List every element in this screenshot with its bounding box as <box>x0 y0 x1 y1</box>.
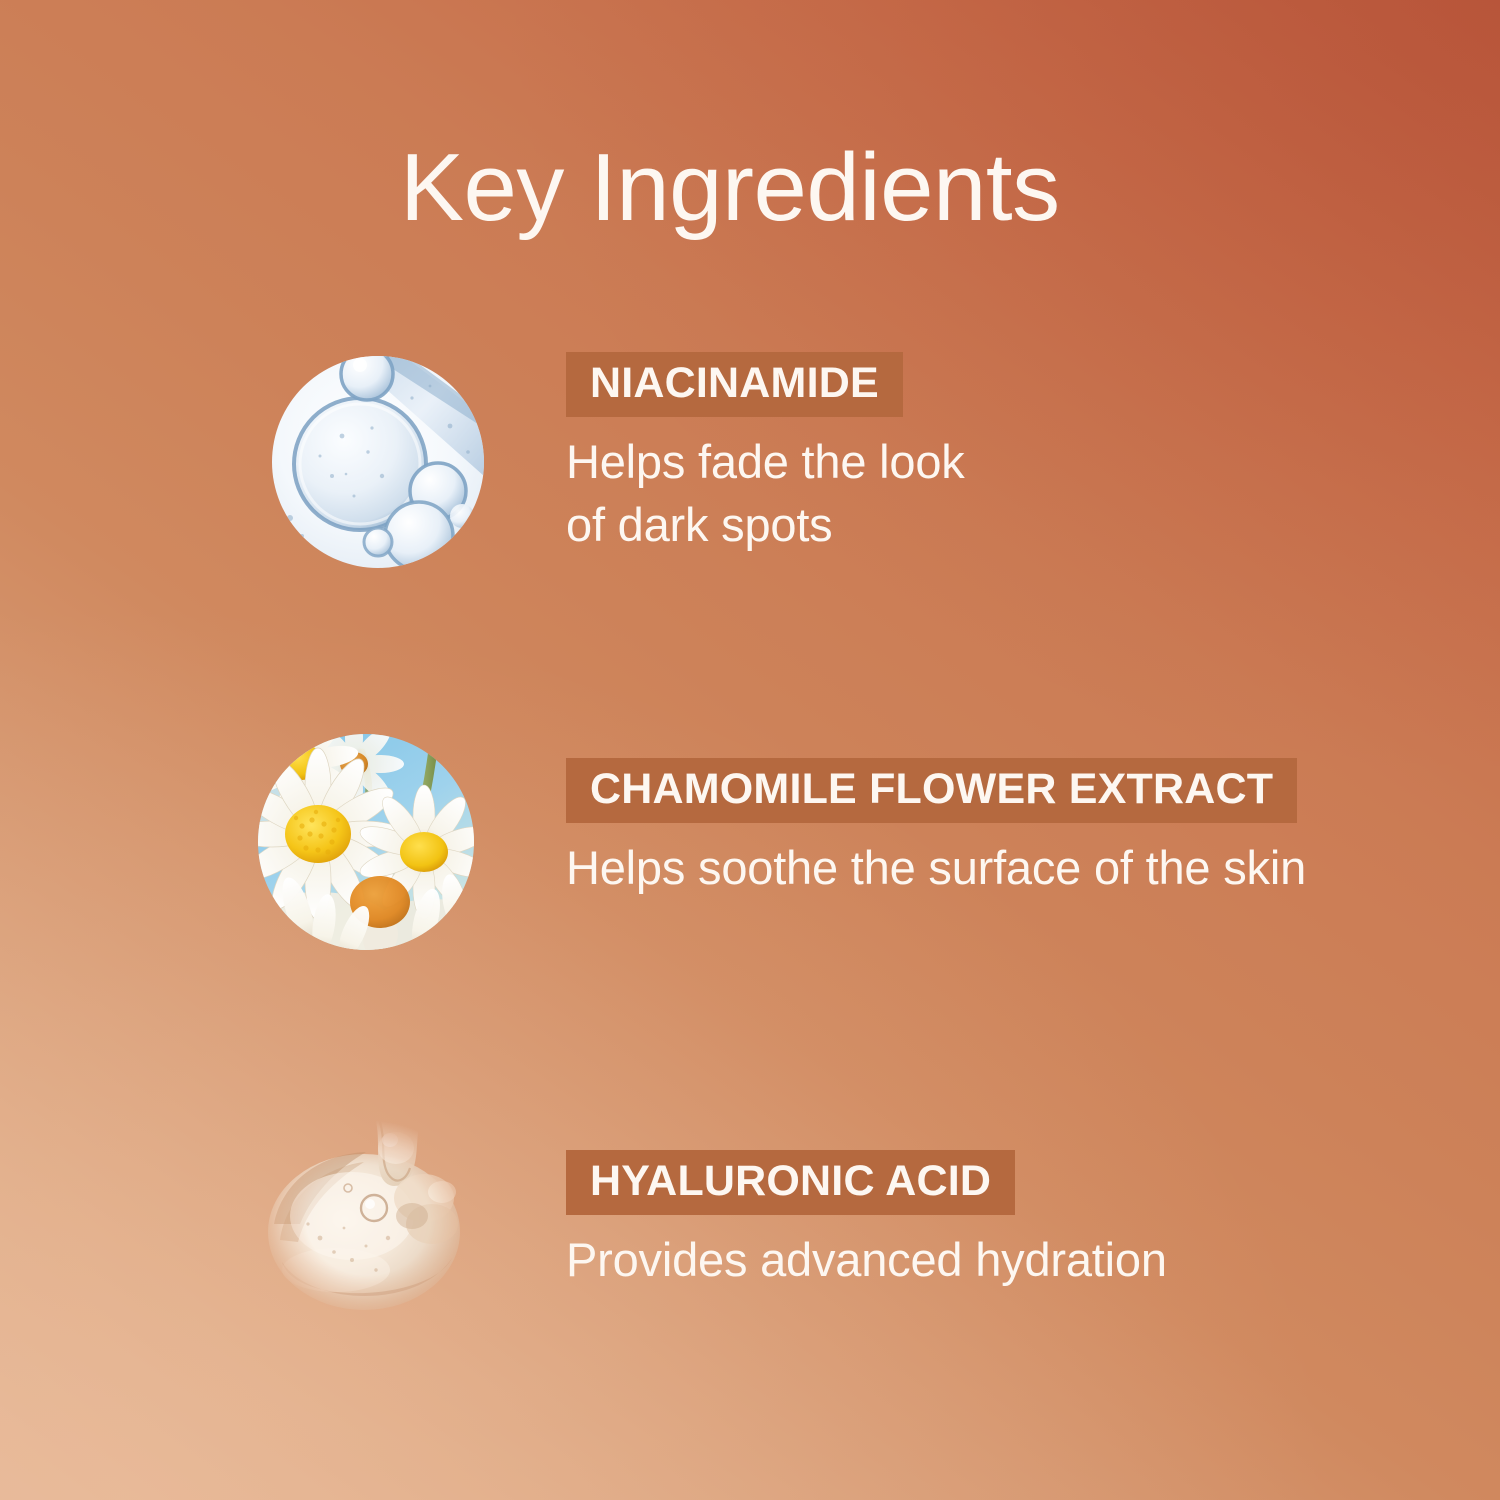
ingredient-name-badge: HYALURONIC ACID <box>566 1150 1015 1215</box>
key-ingredients-infographic: Key Ingredients <box>0 0 1500 1500</box>
ingredient-image-chamomile <box>258 734 474 950</box>
page-title: Key Ingredients <box>400 138 1060 239</box>
ingredient-description: Helps soothe the surface of the skin <box>566 837 1306 900</box>
ingredient-description: Provides advanced hydration <box>566 1229 1167 1292</box>
ingredient-name-badge: CHAMOMILE FLOWER EXTRACT <box>566 758 1297 823</box>
ingredient-image-hyaluronic-acid <box>256 1120 480 1320</box>
ingredient-text-chamomile: CHAMOMILE FLOWER EXTRACT Helps soothe th… <box>566 758 1306 900</box>
ingredient-image-niacinamide <box>272 356 484 568</box>
ingredient-text-hyaluronic-acid: HYALURONIC ACID Provides advanced hydrat… <box>566 1150 1167 1292</box>
ingredient-description: Helps fade the look of dark spots <box>566 431 965 556</box>
ingredient-text-niacinamide: NIACINAMIDE Helps fade the look of dark … <box>566 352 965 556</box>
ingredient-name-badge: NIACINAMIDE <box>566 352 903 417</box>
